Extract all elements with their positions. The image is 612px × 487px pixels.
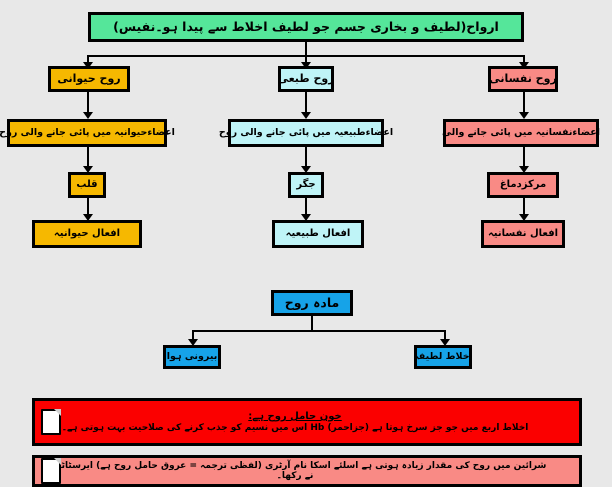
arrow-natural-l2 — [301, 112, 311, 119]
node-aza-haiwania[interactable]: اعضاءحیوانیہ میں پائی جانے والی روح — [7, 119, 167, 147]
node-rooh-haiwani[interactable]: روح حیوانی — [48, 66, 130, 92]
node-aza-tabiya[interactable]: اعضاءطبیعیہ میں پائی جانے والی روح — [228, 119, 384, 147]
note-blood-carrier[interactable]: خون حامل روح ہے: اخلاط اربع میں جو جز سر… — [32, 398, 582, 446]
node-afaal-nafsania[interactable]: افعال نفسانیہ — [481, 220, 565, 248]
node-akhlat-latifa[interactable]: اخلاط لطیفہ — [414, 345, 472, 369]
node-jigar[interactable]: جگر — [288, 172, 324, 198]
note-page-icon — [41, 458, 61, 484]
note-text-block: خون حامل روح ہے: اخلاط اربع میں جو جز سر… — [41, 411, 549, 433]
note-heading: خون حامل روح ہے: — [41, 411, 549, 422]
note-body: اخلاط اربع میں جو جز سرخ ہوتا ہے (جزاحمر… — [41, 423, 549, 433]
node-afaal-tabiya[interactable]: افعال طبیعیہ — [272, 220, 364, 248]
node-afaal-haiwania[interactable]: افعال حیوانیہ — [32, 220, 142, 248]
node-title-arwah[interactable]: ارواح(لطیف و بخاری جسم جو لطیف اخلاط سے … — [88, 12, 524, 42]
node-rooh-tabai[interactable]: روح طبعی — [278, 66, 334, 92]
note-arteries-carrier[interactable]: شرائین میں روح کی مقدار زیادہ ہوتی ہے اس… — [32, 455, 582, 487]
node-markaz-dimagh[interactable]: مرکزدماغ — [487, 172, 559, 198]
node-aza-nafsania[interactable]: اعضاءنفسانیہ میں پائی جانے والی — [443, 119, 599, 147]
arrow-animal-l2 — [83, 112, 93, 119]
node-qalb[interactable]: قلب — [68, 172, 106, 198]
node-bairooni-hawa[interactable]: بیرونی ہوا — [163, 345, 221, 369]
connector-title-trunk — [305, 42, 307, 56]
connector-madda-bus — [192, 330, 445, 332]
note-text-block: شرائین میں روح کی مقدار زیادہ ہوتی ہے اس… — [41, 461, 549, 481]
note-body: شرائین میں روح کی مقدار زیادہ ہوتی ہے اس… — [41, 461, 549, 481]
note-page-icon — [41, 409, 61, 435]
flowchart-canvas: ارواح(لطیف و بخاری جسم جو لطیف اخلاط سے … — [0, 0, 612, 486]
connector-madda-trunk — [311, 316, 313, 331]
arrow-psychic-l2 — [519, 112, 529, 119]
node-rooh-nafsani[interactable]: روح نفسانی — [488, 66, 558, 92]
node-madda-rooh[interactable]: مادہ روح — [271, 290, 353, 316]
